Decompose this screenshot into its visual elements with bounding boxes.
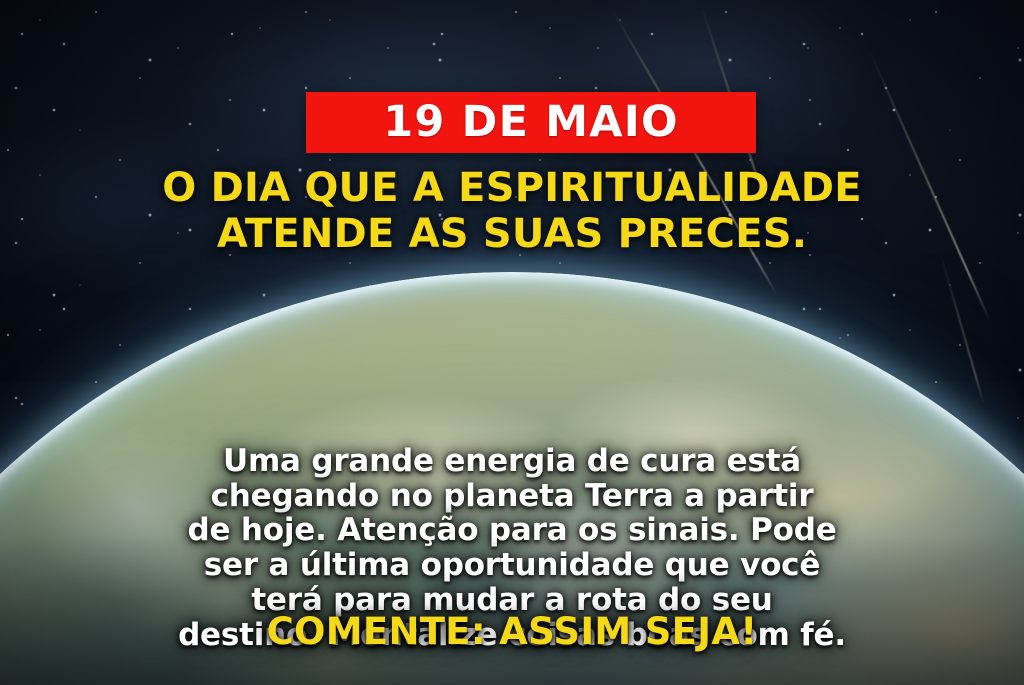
body-line-2: chegando no planeta Terra a partir: [50, 479, 974, 514]
poster-content: 19 DE MAIO O DIA QUE A ESPIRITUALIDADE A…: [0, 0, 1024, 685]
headline-line-2: ATENDE AS SUAS PRECES.: [0, 212, 1024, 258]
date-banner-label: 19 DE MAIO: [383, 101, 678, 144]
body-line-3: de hoje. Atenção para os sinais. Pode: [50, 513, 974, 548]
date-banner: 19 DE MAIO: [306, 92, 756, 153]
headline: O DIA QUE A ESPIRITUALIDADE ATENDE AS SU…: [0, 166, 1024, 257]
body-line-4: ser a última oportunidade que você: [50, 548, 974, 583]
call-to-action-text: COMENTE: ASSIM SEJA!: [0, 613, 1024, 650]
poster-image: 19 DE MAIO O DIA QUE A ESPIRITUALIDADE A…: [0, 0, 1024, 685]
body-line-1: Uma grande energia de cura está: [50, 444, 974, 479]
headline-line-1: O DIA QUE A ESPIRITUALIDADE: [0, 166, 1024, 212]
